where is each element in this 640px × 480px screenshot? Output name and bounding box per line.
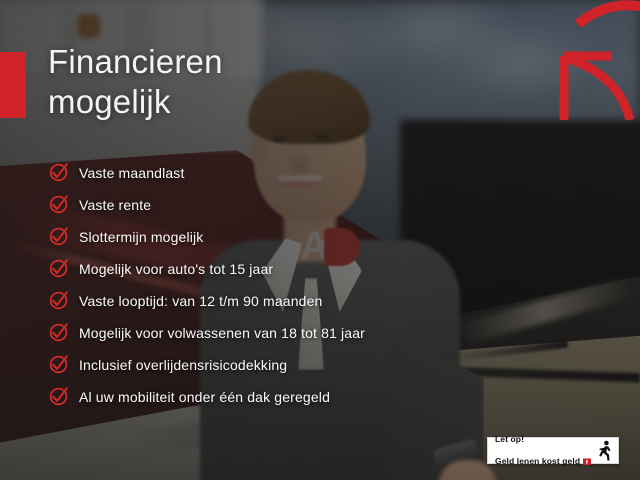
list-item-label: Vaste looptijd: van 12 t/m 90 maanden — [79, 293, 322, 309]
badge-accent-icon — [583, 458, 592, 466]
ad-logo-mark — [540, 0, 640, 120]
list-item: Vaste rente — [48, 189, 608, 221]
walking-person-icon-glyph — [594, 440, 614, 462]
page-title: Financieren mogelijk — [48, 42, 378, 122]
list-item: Vaste looptijd: van 12 t/m 90 maanden — [48, 285, 608, 317]
list-item-label: Slottermijn mogelijk — [79, 229, 203, 245]
list-item: Mogelijk voor auto's tot 15 jaar — [48, 253, 608, 285]
list-item: Vaste maandlast — [48, 157, 608, 189]
check-circle-icon-glyph — [48, 257, 70, 279]
badge-line-2: Geld lenen kost geld — [495, 456, 580, 467]
list-item: Slottermijn mogelijk — [48, 221, 608, 253]
check-circle-icon-glyph — [48, 289, 70, 311]
walking-person-icon — [594, 440, 614, 462]
list-item-label: Inclusief overlijdensrisicodekking — [79, 357, 287, 373]
check-circle-icon-glyph — [48, 161, 70, 183]
check-circle-icon — [48, 289, 70, 311]
check-circle-icon — [48, 385, 70, 407]
list-item: Inclusief overlijdensrisicodekking — [48, 349, 608, 381]
list-item-label: Mogelijk voor volwassenen van 18 tot 81 … — [79, 325, 365, 341]
list-item: Al uw mobiliteit onder één dak geregeld — [48, 381, 608, 413]
ad-logo-mark-icon — [540, 0, 640, 120]
check-circle-icon — [48, 193, 70, 215]
check-circle-icon — [48, 353, 70, 375]
list-item-label: Al uw mobiliteit onder één dak geregeld — [79, 389, 330, 405]
badge-line-1: Let op! — [495, 434, 593, 445]
promo-banner: A Financieren mogelijk — [0, 0, 640, 480]
badge-line-2-row: Geld lenen kost geld — [495, 456, 593, 467]
check-circle-icon-glyph — [48, 193, 70, 215]
check-circle-icon — [48, 257, 70, 279]
check-circle-icon-glyph — [48, 225, 70, 247]
accent-red-block — [0, 52, 26, 118]
check-circle-icon-glyph — [48, 385, 70, 407]
check-circle-icon — [48, 161, 70, 183]
check-circle-icon-glyph — [48, 353, 70, 375]
accent-red-block-shape — [0, 52, 26, 118]
feature-list: Vaste maandlast Vaste rente Slottermijn … — [48, 157, 608, 413]
check-circle-icon-glyph — [48, 321, 70, 343]
list-item-label: Vaste rente — [79, 197, 151, 213]
list-item-label: Vaste maandlast — [79, 165, 185, 181]
list-item: Mogelijk voor volwassenen van 18 tot 81 … — [48, 317, 608, 349]
status-badge: Let op! Geld lenen kost geld — [487, 437, 619, 464]
check-circle-icon — [48, 225, 70, 247]
list-item-label: Mogelijk voor auto's tot 15 jaar — [79, 261, 273, 277]
badge-text-block: Let op! Geld lenen kost geld — [495, 423, 593, 478]
check-circle-icon — [48, 321, 70, 343]
